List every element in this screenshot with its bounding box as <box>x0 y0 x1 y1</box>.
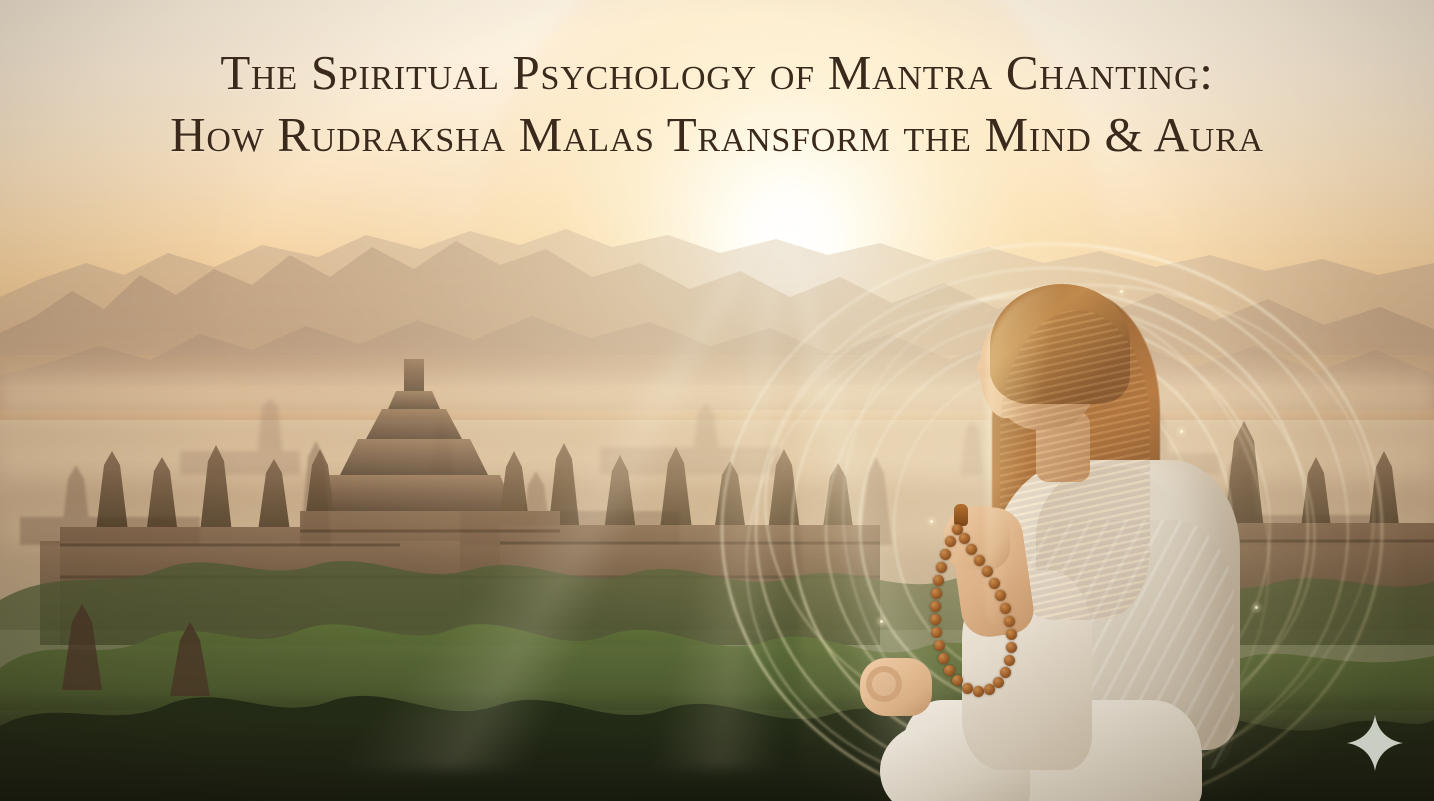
rudraksha-mala <box>900 518 1030 738</box>
mala-beads <box>900 518 1030 738</box>
blog-hero-banner: The Spiritual Psychology of Mantra Chant… <box>0 0 1434 801</box>
mudra-finger-ring <box>866 666 902 702</box>
title-line-2: How Rudraksha Malas Transform the Mind &… <box>0 104 1434 166</box>
meditating-woman <box>840 270 1360 801</box>
title-line-1: The Spiritual Psychology of Mantra Chant… <box>0 42 1434 104</box>
four-point-star-icon[interactable] <box>1344 712 1406 774</box>
page-title: The Spiritual Psychology of Mantra Chant… <box>0 42 1434 166</box>
